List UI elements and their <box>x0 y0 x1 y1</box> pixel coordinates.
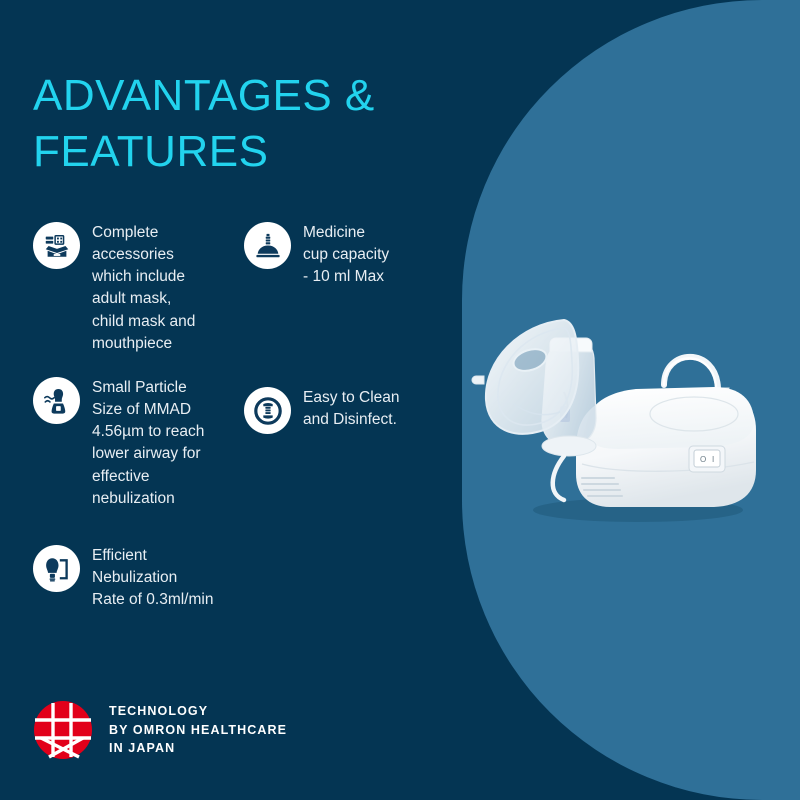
infographic-canvas: O I <box>0 0 800 800</box>
spray-particle-icon <box>33 377 80 424</box>
disassemble-clean-icon <box>244 387 291 434</box>
feature-label: Medicine cup capacity - 10 ml Max <box>303 220 389 288</box>
nebulization-rate-icon <box>33 545 80 592</box>
page-title: ADVANTAGES & FEATURES <box>33 68 433 181</box>
feature-item-easy-to-clean: Easy to Clean and Disinfect. <box>244 385 444 434</box>
footer-text: TECHNOLOGY BY OMRON HEALTHCARE IN JAPAN <box>109 702 287 758</box>
svg-text:I: I <box>712 455 714 464</box>
medicine-cup-icon <box>244 222 291 269</box>
feature-label: Small Particle Size of MMAD 4.56µm to re… <box>92 375 204 510</box>
omron-logo <box>33 700 93 760</box>
feature-item-medicine-cup-capacity: Medicine cup capacity - 10 ml Max <box>244 220 444 288</box>
open-box-accessories-icon <box>33 222 80 269</box>
feature-label: Efficient Nebulization Rate of 0.3ml/min <box>92 543 213 611</box>
feature-item-nebulization-rate: Efficient Nebulization Rate of 0.3ml/min <box>33 543 248 611</box>
product-image-compressor-nebulizer: O I <box>468 288 768 538</box>
svg-text:O: O <box>700 455 706 464</box>
feature-item-small-particle-size: Small Particle Size of MMAD 4.56µm to re… <box>33 375 238 510</box>
feature-label: Complete accessories which include adult… <box>92 220 195 355</box>
footer-branding: TECHNOLOGY BY OMRON HEALTHCARE IN JAPAN <box>33 700 287 760</box>
feature-item-complete-accessories: Complete accessories which include adult… <box>33 220 238 355</box>
feature-label: Easy to Clean and Disinfect. <box>303 385 400 431</box>
